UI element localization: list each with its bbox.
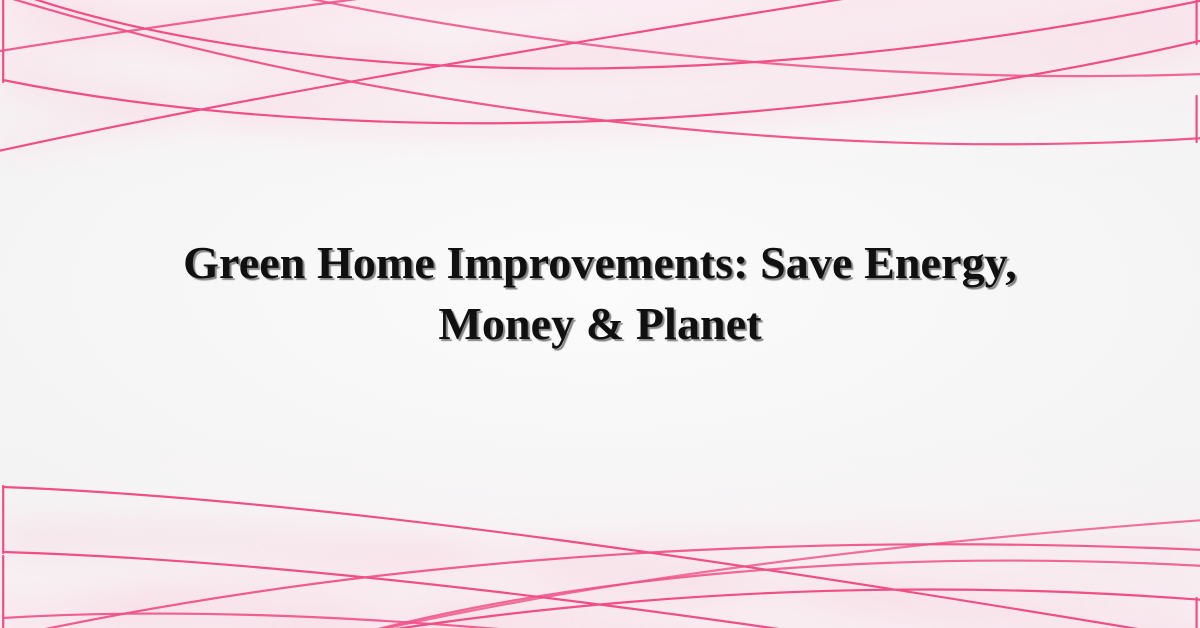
title-container: Green Home Improvements: Save Energy, Mo… <box>0 232 1200 354</box>
page-title: Green Home Improvements: Save Energy, Mo… <box>110 232 1090 354</box>
banner-card: Green Home Improvements: Save Energy, Mo… <box>0 0 1200 628</box>
